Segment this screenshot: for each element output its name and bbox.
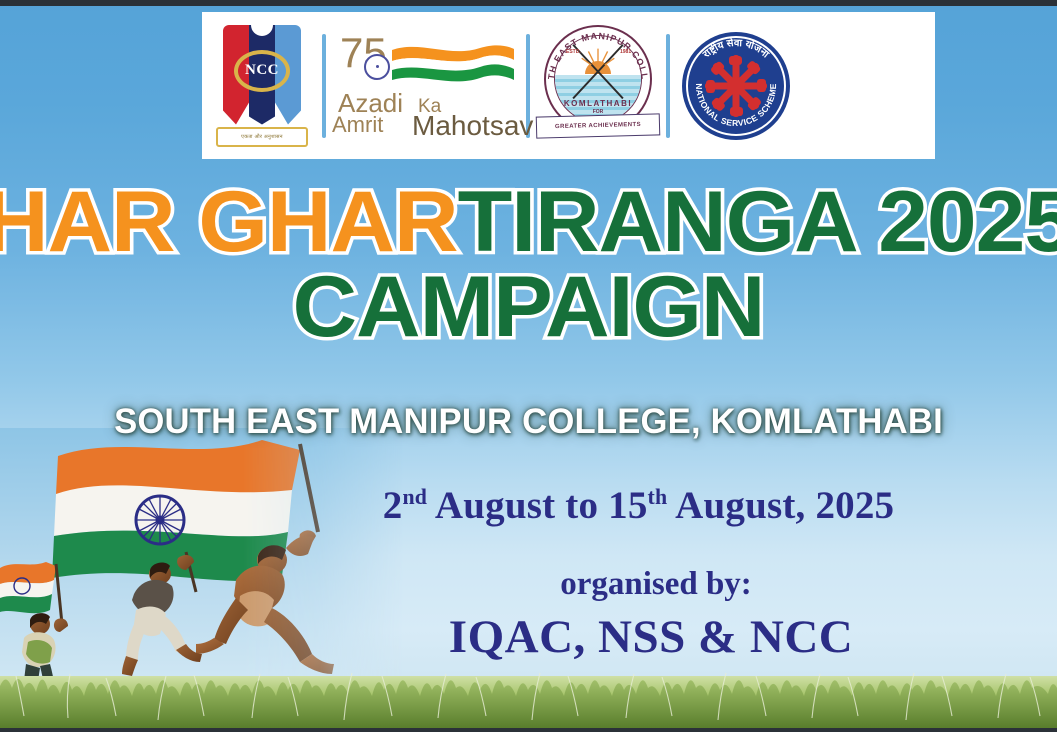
date-tail-text: August, 2025 xyxy=(667,484,894,527)
seal-ribbon-text: GREATER ACHIEVEMENTS xyxy=(555,121,641,129)
ncc-shield-icon: NCC xyxy=(223,25,301,125)
azadi-word-mahotsav: Mahotsav xyxy=(412,110,533,142)
logo-banner: NCC एकता और अनुशासन 75 xyxy=(202,12,935,159)
ncc-motto-scroll: एकता और अनुशासन xyxy=(216,127,308,147)
date-range-line: 2nd August to 15th August, 2025 xyxy=(0,483,1057,528)
date-start-day: 2 xyxy=(383,484,403,527)
college-name-line: SOUTH EAST MANIPUR COLLEGE, KOMLATHABI xyxy=(5,402,1051,442)
logo-cell-azadi: 75 Azadi Ka Amrit Mahotsav xyxy=(326,12,526,159)
headline-line-2: CAMPAIGN xyxy=(0,268,1057,347)
ashoka-chakra-icon xyxy=(364,54,390,80)
seal-estd-label: ESTD. xyxy=(566,49,581,55)
svg-text:NATIONAL SERVICE SCHEME: NATIONAL SERVICE SCHEME xyxy=(694,83,778,128)
seal-estd-year: 1981 xyxy=(620,49,631,55)
seal-for-label: FOR xyxy=(593,109,604,115)
bottom-trim-bar xyxy=(0,728,1057,732)
logo-cell-ncc: NCC एकता और अनुशासन xyxy=(202,12,322,159)
logo-cell-nss: राष्ट्रीय सेवा योजना NATIONAL SERVICE SC… xyxy=(670,12,802,159)
tricolour-flag-icon xyxy=(390,40,516,86)
ncc-motto: एकता और अनुशासन xyxy=(241,134,283,140)
organised-by-label: organised by: xyxy=(0,566,1057,603)
logo-cell-college: SOUTH EAST MANIPUR COLLEGE ESTD. 1981 KO… xyxy=(530,12,666,159)
poster-canvas: NCC एकता और अनुशासन 75 xyxy=(0,0,1057,732)
date-end-suffix: th xyxy=(648,485,668,509)
ncc-logo: NCC एकता और अनुशासन xyxy=(202,25,322,147)
svg-text:SOUTH EAST MANIPUR COLLEGE: SOUTH EAST MANIPUR COLLEGE xyxy=(544,25,650,81)
azadi-ka-amrit-mahotsav-logo: 75 Azadi Ka Amrit Mahotsav xyxy=(326,30,526,142)
headline-line-1: HAR GHAR TIRANGA 2025 xyxy=(0,183,1057,262)
ncc-acronym: NCC xyxy=(245,62,279,79)
top-trim-bar xyxy=(0,0,1057,6)
headline-tiranga-2025: TIRANGA 2025 xyxy=(458,183,1057,262)
organiser-names: IQAC, NSS & NCC xyxy=(0,610,1057,664)
seal-ribbon: GREATER ACHIEVEMENTS xyxy=(536,113,661,138)
seal-place-name: KOMLATHABI xyxy=(564,99,632,108)
date-start-suffix: nd xyxy=(402,485,427,509)
nss-logo: राष्ट्रीय सेवा योजना NATIONAL SERVICE SC… xyxy=(682,32,790,140)
svg-text:राष्ट्रीय सेवा योजना: राष्ट्रीय सेवा योजना xyxy=(700,35,771,60)
nss-ring-text: राष्ट्रीय सेवा योजना NATIONAL SERVICE SC… xyxy=(682,32,790,140)
headline-har-ghar: HAR GHAR xyxy=(0,183,458,262)
headline-block: HAR GHAR TIRANGA 2025 CAMPAIGN xyxy=(0,183,1057,347)
south-east-manipur-college-seal: SOUTH EAST MANIPUR COLLEGE ESTD. 1981 KO… xyxy=(530,23,666,149)
azadi-word-amrit: Amrit xyxy=(332,112,383,138)
date-mid-text: August to xyxy=(427,484,608,527)
date-end-day: 15 xyxy=(608,484,647,527)
